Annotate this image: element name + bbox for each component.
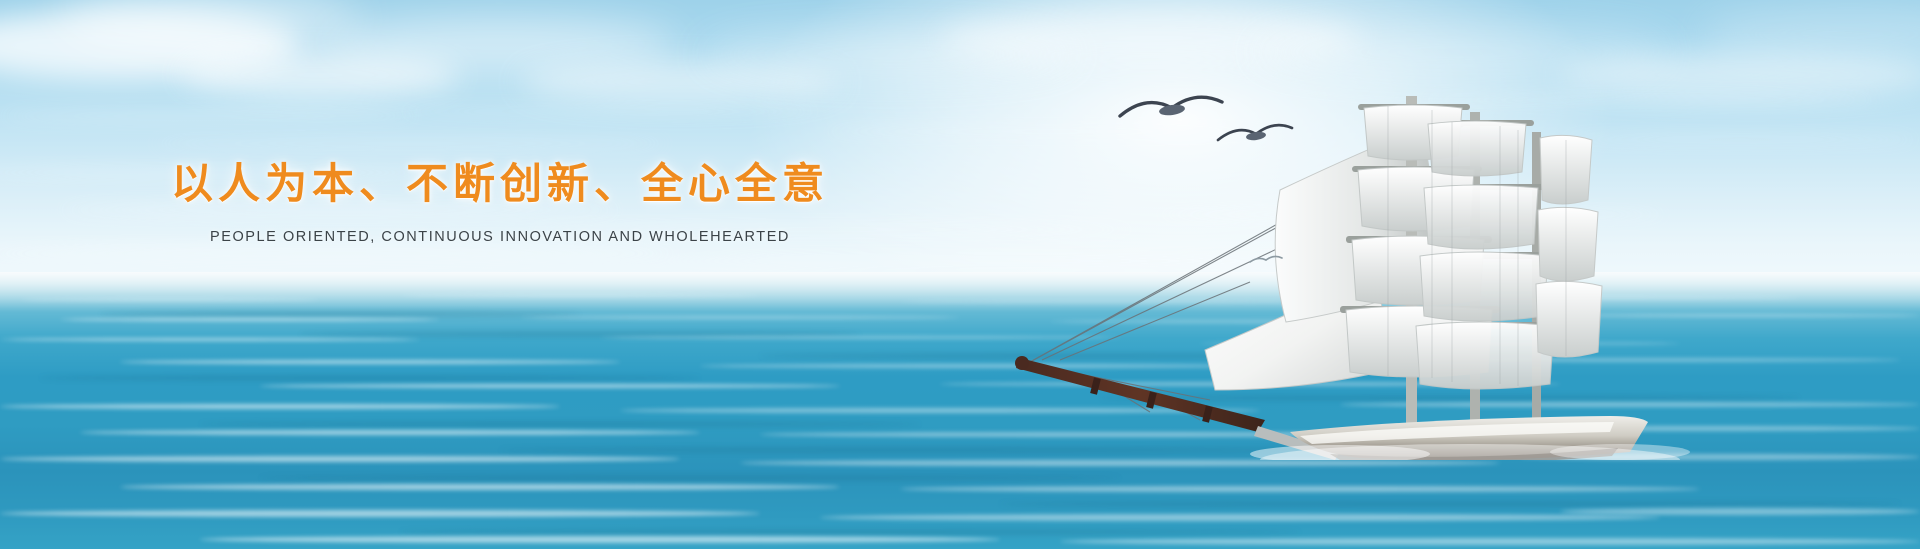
sailing-ship-illustration [1000, 60, 1920, 460]
ship-wake [1250, 444, 1690, 460]
aft-sails [1536, 135, 1602, 357]
hero-banner: 以人为本、不断创新、全心全意 PEOPLE ORIENTED, CONTINUO… [0, 0, 1920, 549]
page-title: 以人为本、不断创新、全心全意 [0, 150, 1000, 211]
page-subtitle: PEOPLE ORIENTED, CONTINUOUS INNOVATION A… [0, 229, 1000, 245]
banner-text-block: 以人为本、不断创新、全心全意 PEOPLE ORIENTED, CONTINUO… [0, 150, 1000, 245]
